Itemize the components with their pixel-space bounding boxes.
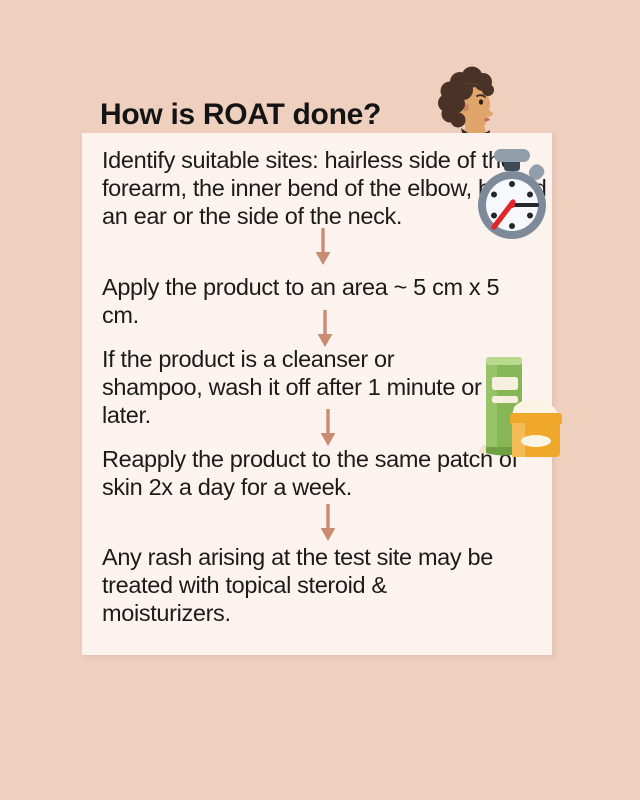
page-title: How is ROAT done? bbox=[100, 98, 381, 132]
stopwatch-icon bbox=[467, 147, 557, 243]
down-arrow-icon-2 bbox=[315, 310, 335, 350]
down-arrow-icon-3 bbox=[318, 409, 338, 449]
header: How is ROAT done? bbox=[100, 78, 540, 132]
down-arrow-icon-1 bbox=[313, 228, 333, 268]
step-text-5: Any rash arising at the test site may be… bbox=[102, 543, 502, 627]
down-arrow-icon-4 bbox=[318, 504, 338, 544]
steps-card: Identify suitable sites: hairless side o… bbox=[82, 133, 552, 655]
step-text-3: If the product is a cleanser or shampoo,… bbox=[102, 345, 482, 429]
cream-tube-and-jar-icon bbox=[472, 355, 568, 463]
